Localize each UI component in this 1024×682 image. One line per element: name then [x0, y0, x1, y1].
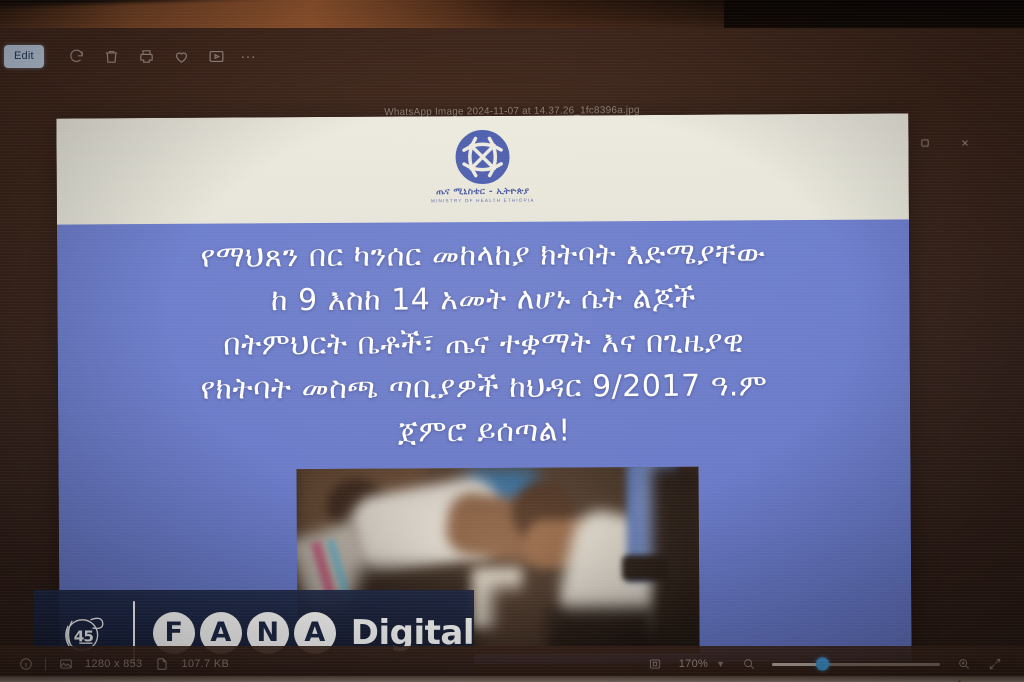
fit-to-window-icon[interactable]: [648, 657, 663, 672]
moh-logo-amharic-text: ጤና ሚኒስቴር - ኢትዮጵያ: [436, 187, 529, 198]
viewer-toolbar: Edit: [0, 38, 292, 74]
image-dimensions-value: 1280 x 853: [85, 658, 142, 670]
zoom-slider-handle[interactable]: [816, 658, 829, 671]
slide-headline: የማህጸን በር ካንሰር መከላከያ ክትባት እድሜያቸው ከ 9 እስከ …: [57, 231, 910, 456]
toolbar-overflow-button[interactable]: ...: [241, 45, 257, 62]
headline-line-5: ጀምሮ ይሰጣል!: [76, 408, 892, 457]
status-divider: [45, 658, 46, 671]
headline-line-3: በትምህርት ቤቶች፣ ጤና ተቋማት እና በጊዜያዊ: [76, 320, 892, 369]
projected-photo-viewer-window: Edit: [0, 28, 1024, 682]
edit-button[interactable]: Edit: [4, 45, 44, 68]
chevron-down-icon[interactable]: ▼: [716, 659, 725, 669]
headline-line-1: የማህጸን በር ካንሰር መከላከያ ክትባት እድሜያቸው: [75, 232, 891, 281]
slideshow-icon[interactable]: [206, 46, 227, 67]
delete-icon[interactable]: [101, 46, 122, 67]
image-dimensions-icon: [58, 657, 73, 672]
maximize-icon[interactable]: [918, 136, 932, 150]
file-size-icon: [154, 657, 169, 672]
file-size-value: 107.7 KB: [181, 658, 229, 670]
headline-line-4: የክትባት መስጫ ጣቢያዎች ከህዳር 9/2017 ዓ.ም: [76, 364, 892, 413]
favorite-icon[interactable]: [171, 46, 192, 67]
screenshot-root: Edit: [0, 0, 1024, 682]
rotate-icon[interactable]: [66, 46, 87, 67]
zoom-in-icon[interactable]: [956, 657, 971, 672]
status-bar-left-group: 1280 x 853 107.7 KB: [0, 657, 229, 672]
displayed-image[interactable]: ጤና ሚኒስቴር - ኢትዮጵያ MINISTRY OF HEALTH ETHI…: [56, 113, 911, 666]
zoom-level-value[interactable]: 170%: [679, 658, 708, 670]
status-bar-right-group: 170% ▼: [648, 657, 1024, 672]
zoom-out-icon[interactable]: [741, 657, 756, 672]
headline-line-2: ከ 9 እስከ 14 አመት ለሆኑ ሴት ልጆች: [75, 276, 891, 325]
zoom-slider-fill: [772, 663, 820, 666]
moh-emblem-icon: [453, 128, 511, 186]
screen-bottom-edge: [0, 676, 1024, 682]
fullscreen-icon[interactable]: [987, 657, 1002, 672]
print-icon[interactable]: [136, 46, 157, 67]
ministry-of-health-logo: ጤና ሚኒስቴር - ኢትዮጵያ MINISTRY OF HEALTH ETHI…: [56, 125, 908, 205]
info-icon[interactable]: [18, 657, 33, 672]
moh-logo-english-text: MINISTRY OF HEALTH ETHIOPIA: [431, 198, 535, 204]
close-icon[interactable]: [958, 136, 972, 150]
